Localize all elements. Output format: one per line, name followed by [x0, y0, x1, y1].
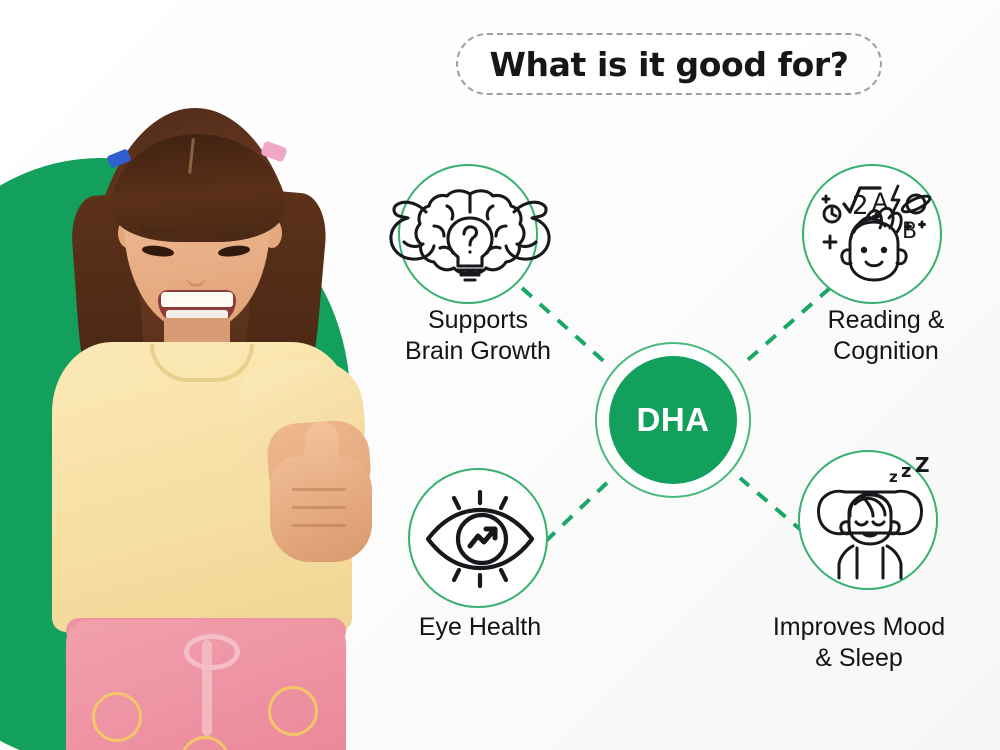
thumbs-up-icon	[302, 421, 341, 493]
sleeping-child-pillow-icon: z z Z	[807, 460, 933, 582]
svg-text:z: z	[889, 468, 898, 486]
knuckle-line	[292, 524, 346, 527]
drawstring-bow	[184, 634, 240, 670]
knuckle-line	[292, 506, 346, 509]
photo-panel	[0, 0, 400, 750]
svg-text:2: 2	[852, 191, 869, 221]
teeth-upper	[161, 292, 233, 307]
eye-growth-arrow-icon	[420, 484, 540, 594]
label-brain-growth: Supports Brain Growth	[360, 305, 596, 367]
page-title: What is it good for?	[490, 45, 849, 84]
label-eye-health: Eye Health	[370, 612, 590, 643]
title-badge: What is it good for?	[456, 33, 882, 95]
infographic-canvas: What is it good for?	[0, 0, 1000, 750]
node-sleep-circle[interactable]: z z Z	[798, 450, 938, 590]
label-reading-cognition: Reading & Cognition	[768, 305, 1000, 367]
center-node-dha[interactable]: DHA	[595, 342, 751, 498]
smiley-print-icon	[92, 692, 142, 742]
nose	[186, 266, 206, 287]
brain-muscle-lightbulb-icon	[382, 186, 558, 290]
node-brain-circle[interactable]	[398, 164, 538, 304]
svg-text:z: z	[901, 461, 911, 482]
child-head-symbols-icon: 2 A B	[810, 176, 938, 300]
dha-benefits-diagram: Supports Brain Growth	[370, 150, 990, 690]
knuckle-line	[292, 488, 346, 491]
smiley-print-icon	[268, 686, 318, 736]
label-improves-mood-sleep: Improves Mood & Sleep	[728, 612, 990, 674]
node-reading-circle[interactable]: 2 A B	[802, 164, 942, 304]
svg-text:Z: Z	[915, 453, 930, 477]
girl-photo	[30, 100, 390, 750]
center-label: DHA	[637, 401, 710, 439]
svg-text:B: B	[902, 219, 917, 244]
node-eye-circle[interactable]	[408, 468, 548, 608]
center-disc: DHA	[609, 356, 737, 484]
svg-text:A: A	[872, 188, 889, 216]
